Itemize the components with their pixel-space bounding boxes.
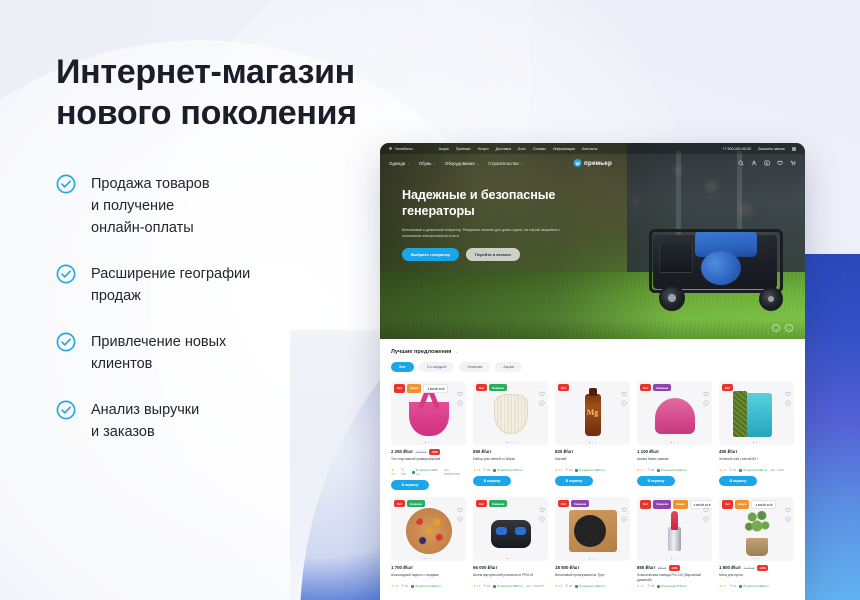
product-price-row: 820 ₽/шт xyxy=(555,449,630,455)
account-icon[interactable] xyxy=(751,160,757,166)
topbar-link-otzyvy[interactable]: Отзывы xyxy=(533,147,546,151)
wishlist-icon[interactable] xyxy=(539,384,545,390)
stock-status: В наличии 2700 шт xyxy=(493,468,523,472)
product-quick-actions xyxy=(621,500,627,515)
filter-chip-discount[interactable]: Со скидкой xyxy=(419,362,455,372)
site-topbar: Челябинск Акции Приемка Услуги Доставка … xyxy=(380,143,805,154)
product-price: 1 700 ₽/шт xyxy=(391,565,413,571)
product-price: 2 250 ₽/шт xyxy=(391,449,413,455)
product-quick-actions xyxy=(785,384,791,399)
product-badge-group: ХитСниженаАкция4 200 ₽/ 10 ₽ xyxy=(640,500,712,509)
review-count: ☰ 25 xyxy=(565,584,572,588)
product-article: Арт.: 2212 xyxy=(771,468,784,472)
check-circle-icon xyxy=(56,400,76,420)
product-badge: Новинка xyxy=(407,500,425,507)
list-item: Продажа товаров и получение онлайн-оплат… xyxy=(56,173,380,239)
location-pin-icon xyxy=(389,147,392,150)
catalog-filter-chips: Хит Со скидкой Новинки Акции xyxy=(391,362,794,372)
product-meta: ★ 4.9 ☰ 31 В наличии 900 шт Арт.: 2212 xyxy=(719,468,794,472)
hero-carousel-controls: ‹ › xyxy=(772,324,793,332)
product-name[interactable]: Мята для кухни xyxy=(719,573,794,582)
rating-star-icon: ★ 4.9 xyxy=(555,468,562,472)
product-card[interactable]: ХитСнижена 1 100 ₽/шт Шапка базис зимняя… xyxy=(637,381,712,490)
site-logo[interactable]: премьер xyxy=(573,159,612,167)
product-name[interactable]: Топ спортивный универсальный xyxy=(391,457,466,466)
phone-number[interactable]: +7 900-000-00-00 xyxy=(722,147,751,151)
product-name[interactable]: Набор для свечей от Айрис xyxy=(473,457,548,466)
logo-text: премьер xyxy=(584,160,612,167)
compare-icon[interactable] xyxy=(703,509,709,515)
product-quick-actions xyxy=(539,384,545,399)
topbar-links: Акции Приемка Услуги Доставка Блог Отзыв… xyxy=(439,147,598,151)
filter-chip-new[interactable]: Новинки xyxy=(459,362,490,372)
review-count: ☰ 45 xyxy=(647,468,654,472)
product-artwork xyxy=(566,504,619,554)
product-badge: Хит xyxy=(640,384,651,391)
close-icon[interactable] xyxy=(792,147,796,151)
product-image[interactable]: ХитСнижена xyxy=(637,381,712,445)
choose-generator-button[interactable]: Выбрать генератор xyxy=(402,248,459,261)
cart-icon[interactable] xyxy=(790,160,796,166)
product-discount-badge: -22% xyxy=(429,449,440,455)
generator-wheel-left xyxy=(659,285,685,311)
product-artwork xyxy=(730,504,783,554)
product-price: 18 500 ₽/шт xyxy=(555,565,579,571)
rating-star-icon: ★ 4.8 xyxy=(473,468,480,472)
wishlist-icon[interactable] xyxy=(777,160,783,166)
compare-icon[interactable] xyxy=(785,393,791,399)
product-quick-actions xyxy=(457,500,463,515)
topbar-link-priemka[interactable]: Приемка xyxy=(456,147,471,151)
compare-icon[interactable] xyxy=(457,393,463,399)
wishlist-icon[interactable] xyxy=(785,384,791,390)
product-discount-badge: -14% xyxy=(757,565,768,571)
image-carousel-dots[interactable] xyxy=(637,558,712,560)
product-meta: ★ 4.8 ☰ 25 В наличии 1200 шт xyxy=(555,584,630,588)
product-meta: ★ 4.9 ☰ 64 В наличии 1800 шт xyxy=(555,468,630,472)
hero-cta-group: Выбрать генератор Перейти в каталог xyxy=(402,248,610,261)
generator-frame xyxy=(649,229,783,293)
hero-subtitle: Бензиновый и дизельный генератор. Резерв… xyxy=(402,227,572,239)
product-card[interactable]: ХитСнижена 66 000 ₽/шт Шлем виртуальной … xyxy=(473,497,548,588)
product-price: 450 ₽/шт xyxy=(719,449,737,455)
product-badge: Хит xyxy=(476,384,487,391)
topbar-link-dostavka[interactable]: Доставка xyxy=(496,147,511,151)
product-card[interactable]: ХитСниженаАкция4 200 ₽/ 10 ₽ 850 ₽/шт 99… xyxy=(637,497,712,588)
product-meta: ★ 4.8 ☰ 98 В наличии 2700 шт xyxy=(473,468,548,472)
product-quick-actions xyxy=(703,384,709,399)
review-count: ☰ 64 xyxy=(565,468,572,472)
product-meta: ★ 4.7 ☰ 45 В наличии 2100 шт xyxy=(637,468,712,472)
filter-chip-hit[interactable]: Хит xyxy=(391,362,414,372)
review-count: ☰ 18 xyxy=(483,584,490,588)
rating-star-icon: ★ 4.7 xyxy=(637,468,644,472)
product-price-row: 18 500 ₽/шт xyxy=(555,565,630,571)
site-main-nav: Одежда Обувь Оборудование Строительство … xyxy=(380,154,805,172)
rating-star-icon: ★ 4.9 xyxy=(473,584,480,588)
rating-star-icon: ★ 4.8 xyxy=(555,584,562,588)
carousel-prev-button[interactable]: ‹ xyxy=(772,324,780,332)
product-card[interactable]: Хит Mg 820 ₽/шт Магний ★ 4.9 ☰ 64 В нали… xyxy=(555,381,630,490)
nav-category-oborudovanie[interactable]: Оборудование xyxy=(445,161,479,166)
product-price-row: 850 ₽/шт 990 ₽ -14% xyxy=(637,565,712,571)
location-selector[interactable]: Челябинск xyxy=(389,147,413,151)
stock-status: В наличии 1500 шт xyxy=(493,584,523,588)
product-badge-group: ХитСнижена xyxy=(640,384,671,391)
compare-icon[interactable] xyxy=(457,509,463,515)
check-circle-icon xyxy=(56,264,76,284)
review-count: ☰ 31 xyxy=(729,468,736,472)
product-card[interactable]: ХитНовинка 650 ₽/шт Набор для свечей от … xyxy=(473,381,548,490)
review-count: ☰ 52 xyxy=(401,584,408,588)
add-to-cart-button[interactable]: В корзину xyxy=(637,476,675,486)
wishlist-icon[interactable] xyxy=(785,500,791,506)
product-price: 66 000 ₽/шт xyxy=(473,565,497,571)
product-meta: ★ 4.9 ☰ 78 В наличии 3770 шт xyxy=(637,584,712,588)
stock-status: В наличии 900 шт xyxy=(739,468,768,472)
product-badge: Хит xyxy=(722,500,733,509)
callback-link[interactable]: Заказать звонок xyxy=(758,147,785,151)
product-badge-group: ХитНовинка xyxy=(394,500,425,507)
product-badge: Хит xyxy=(558,500,569,507)
wishlist-icon[interactable] xyxy=(703,384,709,390)
image-carousel-dots[interactable] xyxy=(391,442,466,444)
product-image[interactable]: ХитСниженаАкция4 200 ₽/ 10 ₽ xyxy=(637,497,712,561)
product-artwork xyxy=(730,388,783,438)
product-image[interactable]: ХитНовинка xyxy=(391,497,466,561)
product-name[interactable]: Шапка базис зимняя xyxy=(637,457,712,466)
product-badge: Хит xyxy=(394,384,405,393)
topbar-link-uslugi[interactable]: Услуги xyxy=(478,147,489,151)
product-badge: Акция xyxy=(673,500,688,509)
product-badge: Хит xyxy=(640,500,651,509)
rating-star-icon: ★ 4.9 xyxy=(637,584,644,588)
product-old-price: 990 ₽ xyxy=(658,566,666,570)
website-mockup: Челябинск Акции Приемка Услуги Доставка … xyxy=(380,143,805,600)
product-badge: Хит xyxy=(394,500,405,507)
stock-status: В наличии 3150 шт xyxy=(412,468,441,476)
review-count: ☰ 78 xyxy=(647,584,654,588)
topbar-link-info[interactable]: Информация xyxy=(553,147,575,151)
product-grid: ХитАкция4 200 ₽/ 10 ₽ 2 250 ₽/шт 2 900 ₽… xyxy=(391,381,794,588)
stock-status: В наличии 1800 шт xyxy=(575,468,605,472)
product-badge: Снижена xyxy=(653,500,671,509)
product-badge-group: Хит xyxy=(558,384,569,391)
product-badge: Снижена xyxy=(653,384,671,391)
product-image[interactable]: ХитНовинка xyxy=(473,381,548,445)
topbar-contact: +7 900-000-00-00 Заказать звонок xyxy=(722,147,796,151)
product-meta: ★ 4.9 ☰ 18 В наличии 1500 шт Арт.: 71297… xyxy=(473,584,548,588)
benefit-label: Анализ выручки и заказов xyxy=(91,399,321,443)
product-artwork xyxy=(484,504,537,554)
compare-icon[interactable] xyxy=(539,393,545,399)
compare-icon[interactable] xyxy=(785,509,791,515)
product-name[interactable]: Виниловый проигрыватель Турн xyxy=(555,573,630,582)
benefit-label: Продажа товаров и получение онлайн-оплат… xyxy=(91,173,321,239)
rating-star-icon: ★ 4.8 xyxy=(391,584,398,588)
compare-icon[interactable] xyxy=(703,393,709,399)
stock-status: В наличии 3770 шт xyxy=(657,584,687,588)
page-title: Интернет-магазин нового поколения xyxy=(56,52,386,135)
product-image[interactable]: ХитАкция4 200 ₽/ 10 ₽ xyxy=(391,381,466,445)
product-badge-group: ХитНовинка xyxy=(476,384,507,391)
product-price-row: 1 800 ₽/шт 2 100 ₽ -14% xyxy=(719,565,794,571)
catalog-section: Лучшие предложения › Хит Со скидкой Нови… xyxy=(380,339,805,588)
product-name[interactable]: Шлем виртуальной реальности PRO-M xyxy=(473,573,548,582)
product-quick-actions xyxy=(457,384,463,399)
image-carousel-dots[interactable] xyxy=(637,442,712,444)
product-discount-badge: -14% xyxy=(669,565,680,571)
product-badge-group: ХитСнижена xyxy=(476,500,507,507)
generator-wheel-right xyxy=(759,287,783,311)
benefits-list: Продажа товаров и получение онлайн-оплат… xyxy=(56,173,380,443)
hero-copy: Надежные и безопасные генераторы Бензино… xyxy=(380,172,610,261)
product-card[interactable]: ХитНовинка 1 700 ₽/шт Шоколадный поднос … xyxy=(391,497,466,588)
go-to-catalog-button[interactable]: Перейти в каталог xyxy=(466,248,520,261)
topbar-link-contacts[interactable]: Контакты xyxy=(582,147,598,151)
add-to-cart-button[interactable]: В корзину xyxy=(473,476,511,486)
catalog-title: Лучшие предложения xyxy=(391,349,451,355)
product-price-row: 450 ₽/шт xyxy=(719,449,794,455)
product-artwork: Mg xyxy=(566,388,619,438)
wishlist-icon[interactable] xyxy=(457,500,463,506)
product-meta: ★ 4.7 ☰ 41 В наличии 1300 шт xyxy=(719,584,794,588)
product-badge: Новинка xyxy=(489,384,507,391)
review-count: ☰ 212 xyxy=(401,468,409,476)
product-price: 850 ₽/шт xyxy=(637,565,655,571)
rating-star-icon: ★ 4.9 xyxy=(391,468,398,476)
product-quick-actions xyxy=(785,500,791,515)
add-to-cart-button[interactable]: В корзину xyxy=(719,476,757,486)
search-icon[interactable] xyxy=(738,160,744,166)
benefit-label: Привлечение новых клиентов xyxy=(91,331,321,375)
product-card[interactable]: Хит 450 ₽/шт Зеленый чай с мятой 50 г ★ … xyxy=(719,381,794,490)
product-meta: ★ 4.9 ☰ 212 В наличии 3150 шт Арт.: 1566… xyxy=(391,468,466,476)
check-circle-icon xyxy=(56,332,76,352)
rating-star-icon: ★ 4.9 xyxy=(719,468,726,472)
product-badge-group: ХитАкция4 200 ₽/ 10 ₽ xyxy=(394,384,448,393)
compare-icon[interactable] xyxy=(539,509,545,515)
product-image[interactable]: Хит xyxy=(719,381,794,445)
product-image[interactable]: ХитСнижена xyxy=(555,497,630,561)
image-carousel-dots[interactable] xyxy=(555,558,630,560)
wishlist-icon[interactable] xyxy=(539,500,545,506)
stock-status: В наличии 1200 шт xyxy=(575,584,605,588)
product-price: 1 800 ₽/шт xyxy=(719,565,741,571)
product-artwork xyxy=(648,388,701,438)
product-name[interactable]: Зеленый чай с мятой 50 г xyxy=(719,457,794,466)
product-badge: Хит xyxy=(722,384,733,391)
product-artwork xyxy=(402,388,455,438)
generator-product-image xyxy=(647,221,797,313)
list-item: Привлечение новых клиентов xyxy=(56,331,380,375)
product-badge: Хит xyxy=(558,384,569,391)
product-name[interactable]: Шоколадный поднос с ягодами xyxy=(391,573,466,582)
promo-left-panel: Интернет-магазин нового поколения Продаж… xyxy=(0,0,380,600)
product-old-price: 2 100 ₽ xyxy=(744,566,755,570)
product-quick-actions xyxy=(703,500,709,515)
product-price-row: 1 100 ₽/шт xyxy=(637,449,712,455)
product-image[interactable]: Хит Mg xyxy=(555,381,630,445)
review-count: ☰ 98 xyxy=(483,468,490,472)
product-old-price: 2 900 ₽ xyxy=(416,450,427,454)
chevron-right-icon: › xyxy=(455,350,457,355)
image-carousel-dots[interactable] xyxy=(719,558,794,560)
topbar-link-akcii[interactable]: Акции xyxy=(439,147,449,151)
background-right-gradient-block xyxy=(804,254,860,600)
nav-category-obuv[interactable]: Обувь xyxy=(419,161,436,166)
product-card[interactable]: ХитАкция4 200 ₽/ 10 ₽ 2 250 ₽/шт 2 900 ₽… xyxy=(391,381,466,490)
product-badge: Снижена xyxy=(571,500,589,507)
product-quick-actions xyxy=(621,384,627,399)
image-carousel-dots[interactable] xyxy=(555,442,630,444)
product-card[interactable]: ХитАкция4 200 ₽/ 10 ₽ 1 800 ₽/шт 2 100 ₽… xyxy=(719,497,794,588)
nav-category-odezhda[interactable]: Одежда xyxy=(389,161,410,166)
image-carousel-dots[interactable] xyxy=(719,442,794,444)
wishlist-icon[interactable] xyxy=(457,384,463,390)
wishlist-icon[interactable] xyxy=(621,500,627,506)
list-item: Анализ выручки и заказов xyxy=(56,399,380,443)
stock-status: В наличии 1200 шт xyxy=(411,584,441,588)
logo-mark-icon xyxy=(573,159,581,167)
product-card[interactable]: ХитСнижена 18 500 ₽/шт Виниловый проигры… xyxy=(555,497,630,588)
product-price-row: 650 ₽/шт xyxy=(473,449,548,455)
rating-star-icon: ★ 4.7 xyxy=(719,584,726,588)
nav-category-stroitelstvo[interactable]: Строительство xyxy=(488,161,523,166)
location-label: Челябинск xyxy=(395,147,413,151)
stock-status: В наличии 1300 шт xyxy=(739,584,769,588)
wishlist-icon[interactable] xyxy=(621,384,627,390)
product-quick-actions xyxy=(539,500,545,515)
add-to-cart-button[interactable]: В корзину xyxy=(555,476,593,486)
product-badge: Акция xyxy=(735,500,750,509)
product-price-row: 66 000 ₽/шт xyxy=(473,565,548,571)
stock-status: В наличии 2100 шт xyxy=(657,468,687,472)
nav-icon-group xyxy=(738,160,796,166)
product-badge: Хит xyxy=(476,500,487,507)
image-carousel-dots[interactable] xyxy=(473,558,548,560)
product-badge: Снижена xyxy=(489,500,507,507)
product-price-row: 2 250 ₽/шт 2 900 ₽ -22% xyxy=(391,449,466,455)
check-circle-icon xyxy=(56,174,76,194)
product-price: 820 ₽/шт xyxy=(555,449,573,455)
benefit-label: Расширение географии продаж xyxy=(91,263,321,307)
product-name[interactable]: Магний xyxy=(555,457,630,466)
image-carousel-dots[interactable] xyxy=(473,442,548,444)
product-badge-group: ХитАкция4 200 ₽/ 10 ₽ xyxy=(722,500,776,509)
site-hero: Челябинск Акции Приемка Услуги Доставка … xyxy=(380,143,805,339)
product-artwork xyxy=(648,504,701,554)
product-image[interactable]: ХитАкция4 200 ₽/ 10 ₽ xyxy=(719,497,794,561)
product-badge-group: Хит xyxy=(722,384,733,391)
topbar-link-blog[interactable]: Блог xyxy=(518,147,526,151)
compare-icon[interactable] xyxy=(621,393,627,399)
product-name[interactable]: Классическая помада Pro 110 (бархатный р… xyxy=(637,573,712,582)
product-meta: ★ 4.8 ☰ 52 В наличии 1200 шт xyxy=(391,584,466,588)
list-item: Расширение географии продаж xyxy=(56,263,380,307)
add-to-cart-button[interactable]: В корзину xyxy=(391,480,429,490)
category-links: Одежда Обувь Оборудование Строительство xyxy=(389,161,523,166)
product-image[interactable]: ХитСнижена xyxy=(473,497,548,561)
product-badge: 4 200 ₽/ 10 ₽ xyxy=(423,384,448,393)
product-price: 1 100 ₽/шт xyxy=(637,449,659,455)
product-badge-group: ХитСнижена xyxy=(558,500,589,507)
compare-icon[interactable] xyxy=(764,160,770,166)
product-artwork xyxy=(402,504,455,554)
product-price: 650 ₽/шт xyxy=(473,449,491,455)
wishlist-icon[interactable] xyxy=(703,500,709,506)
product-badge: 4 200 ₽/ 10 ₽ xyxy=(751,500,776,509)
product-artwork xyxy=(484,388,537,438)
product-badge: Акция xyxy=(407,384,422,393)
catalog-header[interactable]: Лучшие предложения › xyxy=(391,349,794,355)
review-count: ☰ 41 xyxy=(729,584,736,588)
product-article: Арт.: 7129777 xyxy=(526,584,544,588)
image-carousel-dots[interactable] xyxy=(391,558,466,560)
product-article: Арт.: 1566975487 xyxy=(444,468,466,476)
compare-icon[interactable] xyxy=(621,509,627,515)
product-price-row: 1 700 ₽/шт xyxy=(391,565,466,571)
filter-chip-sale[interactable]: Акции xyxy=(495,362,522,372)
hero-headline: Надежные и безопасные генераторы xyxy=(402,188,610,220)
carousel-next-button[interactable]: › xyxy=(785,324,793,332)
